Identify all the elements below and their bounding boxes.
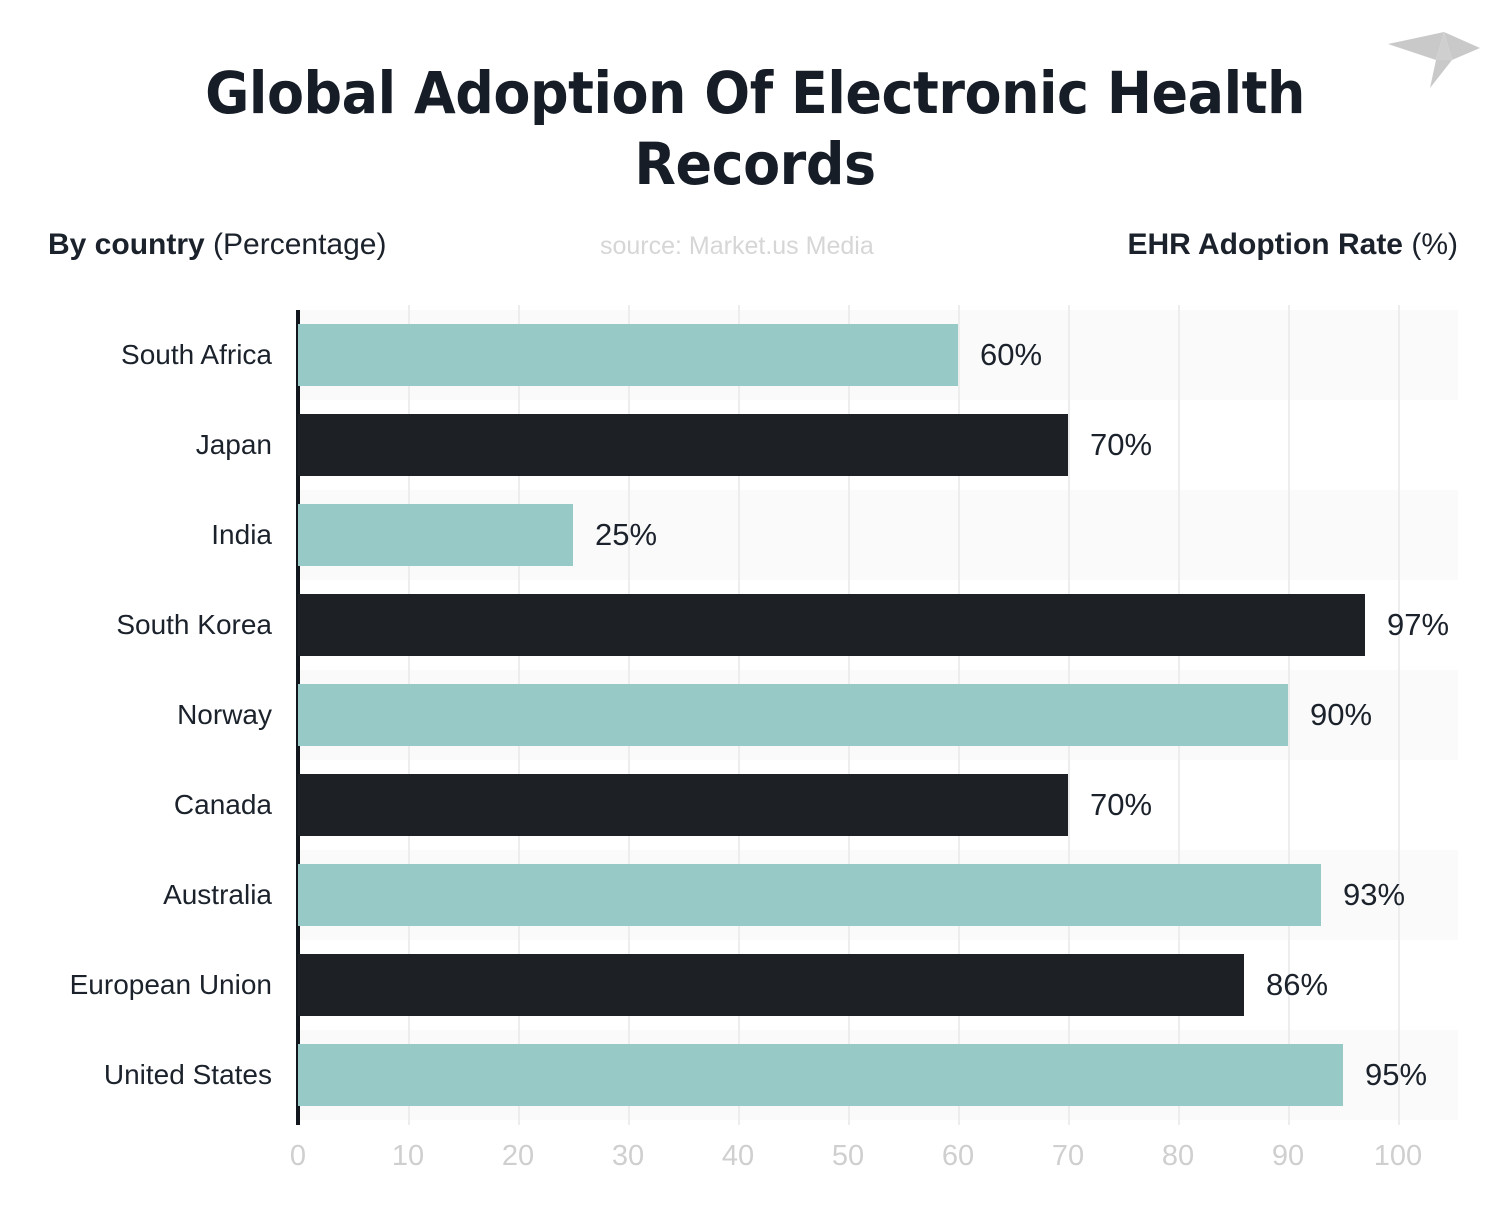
bar-row[interactable]: United States95% (0, 1030, 1500, 1120)
bar-row[interactable]: European Union86% (0, 940, 1500, 1030)
category-axis-caption: By country (Percentage) (48, 228, 386, 262)
x-tick-40: 40 (722, 1140, 754, 1173)
bar-chart-plot-area: South Africa60%Japan70%India25%South Kor… (0, 305, 1500, 1135)
bar-united-states[interactable] (298, 1044, 1343, 1106)
x-tick-60: 60 (942, 1140, 974, 1173)
category-label-australia: Australia (0, 850, 272, 940)
bar-value-india: 25% (595, 490, 657, 580)
bar-value-united-states: 95% (1365, 1030, 1427, 1120)
bar-row[interactable]: Canada70% (0, 760, 1500, 850)
x-tick-0: 0 (290, 1140, 306, 1173)
bar-value-european-union: 86% (1266, 940, 1328, 1030)
bar-australia[interactable] (298, 864, 1321, 926)
bar-row[interactable]: Norway90% (0, 670, 1500, 760)
bar-row[interactable]: South Africa60% (0, 310, 1500, 400)
x-tick-80: 80 (1162, 1140, 1194, 1173)
category-axis-caption-light: (Percentage) (213, 228, 386, 261)
category-axis-caption-bold: By country (48, 228, 205, 261)
category-label-european-union: European Union (0, 940, 272, 1030)
x-tick-20: 20 (502, 1140, 534, 1173)
bar-india[interactable] (298, 504, 573, 566)
category-label-norway: Norway (0, 670, 272, 760)
bar-row[interactable]: India25% (0, 490, 1500, 580)
bar-canada[interactable] (298, 774, 1068, 836)
bar-value-japan: 70% (1090, 400, 1152, 490)
bar-norway[interactable] (298, 684, 1288, 746)
source-note: source: Market.us Media (600, 232, 874, 261)
legend-entry-ehr-adoption-rate: EHR Adoption Rate (%) (1127, 228, 1458, 262)
bar-south-africa[interactable] (298, 324, 958, 386)
category-label-canada: Canada (0, 760, 272, 850)
x-tick-30: 30 (612, 1140, 644, 1173)
bar-value-south-africa: 60% (980, 310, 1042, 400)
bar-value-south-korea: 97% (1387, 580, 1449, 670)
chart-subheader: By country (Percentage) source: Market.u… (0, 228, 1500, 274)
bar-value-norway: 90% (1310, 670, 1372, 760)
bar-row[interactable]: South Korea97% (0, 580, 1500, 670)
x-tick-70: 70 (1052, 1140, 1084, 1173)
bar-european-union[interactable] (298, 954, 1244, 1016)
x-tick-100: 100 (1374, 1140, 1422, 1173)
x-tick-50: 50 (832, 1140, 864, 1173)
bar-japan[interactable] (298, 414, 1068, 476)
legend-label-light: (%) (1411, 228, 1458, 261)
category-label-japan: Japan (0, 400, 272, 490)
category-label-south-africa: South Africa (0, 310, 272, 400)
legend-label-bold: EHR Adoption Rate (1127, 228, 1403, 261)
x-tick-10: 10 (392, 1140, 424, 1173)
category-label-india: India (0, 490, 272, 580)
bar-value-canada: 70% (1090, 760, 1152, 850)
bar-south-korea[interactable] (298, 594, 1365, 656)
category-label-united-states: United States (0, 1030, 272, 1120)
origami-bird-logo (1382, 16, 1486, 92)
bar-row[interactable]: Japan70% (0, 400, 1500, 490)
page-title: Global Adoption Of Electronic Health Rec… (183, 58, 1327, 200)
x-tick-90: 90 (1272, 1140, 1304, 1173)
category-label-south-korea: South Korea (0, 580, 272, 670)
bar-row[interactable]: Australia93% (0, 850, 1500, 940)
bar-value-australia: 93% (1343, 850, 1405, 940)
x-axis-tick-labels: 0102030405060708090100 (0, 1140, 1500, 1190)
